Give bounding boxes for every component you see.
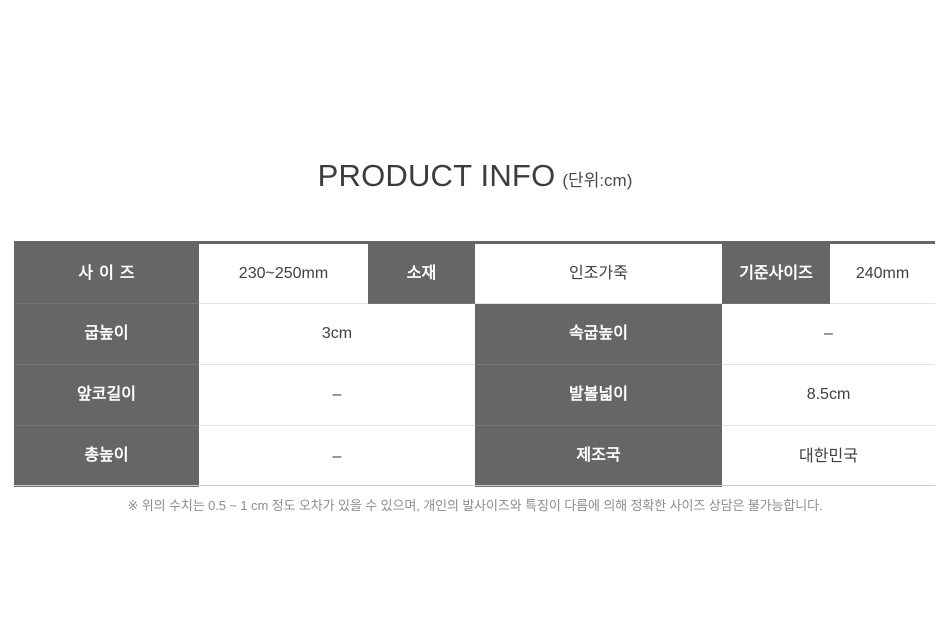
spec-label-toe-length: 앞코길이	[14, 365, 199, 426]
spec-value-inner-heel-height: –	[722, 304, 935, 365]
spec-value-standard-size: 240mm	[830, 243, 935, 304]
spec-label-inner-heel-height: 속굽높이	[475, 304, 722, 365]
product-info-page: PRODUCT INFO(단위:cm) 사이즈 230~250mm 소재 인조가…	[0, 0, 950, 644]
spec-label-material: 소재	[368, 243, 475, 304]
spec-label-foot-width: 발볼넓이	[475, 365, 722, 426]
spec-value-size: 230~250mm	[199, 243, 368, 304]
table-row: 총높이 – 제조국 대한민국	[14, 426, 935, 487]
spec-value-foot-width: 8.5cm	[722, 365, 935, 426]
spec-table-body: 사이즈 230~250mm 소재 인조가죽 기준사이즈 240mm 굽높이 3c…	[14, 243, 935, 487]
table-row: 굽높이 3cm 속굽높이 –	[14, 304, 935, 365]
size-disclaimer-note: ※ 위의 수치는 0.5 ~ 1 cm 정도 오차가 있을 수 있으며, 개인의…	[0, 495, 950, 514]
spec-value-toe-length: –	[199, 365, 475, 426]
product-spec-table: 사이즈 230~250mm 소재 인조가죽 기준사이즈 240mm 굽높이 3c…	[14, 241, 935, 487]
table-row: 사이즈 230~250mm 소재 인조가죽 기준사이즈 240mm	[14, 243, 935, 304]
table-bottom-divider	[14, 485, 935, 486]
spec-value-country-of-origin: 대한민국	[722, 426, 935, 487]
spec-label-heel-height: 굽높이	[14, 304, 199, 365]
spec-label-total-height: 총높이	[14, 426, 199, 487]
page-title-main: PRODUCT INFO	[318, 158, 556, 193]
spec-value-heel-height: 3cm	[199, 304, 475, 365]
spec-label-size: 사이즈	[14, 243, 199, 304]
spec-value-total-height: –	[199, 426, 475, 487]
page-title: PRODUCT INFO(단위:cm)	[0, 158, 950, 194]
page-title-unit: (단위:cm)	[562, 171, 632, 190]
table-row: 앞코길이 – 발볼넓이 8.5cm	[14, 365, 935, 426]
spec-value-material: 인조가죽	[475, 243, 722, 304]
spec-label-country-of-origin: 제조국	[475, 426, 722, 487]
spec-label-standard-size: 기준사이즈	[722, 243, 830, 304]
